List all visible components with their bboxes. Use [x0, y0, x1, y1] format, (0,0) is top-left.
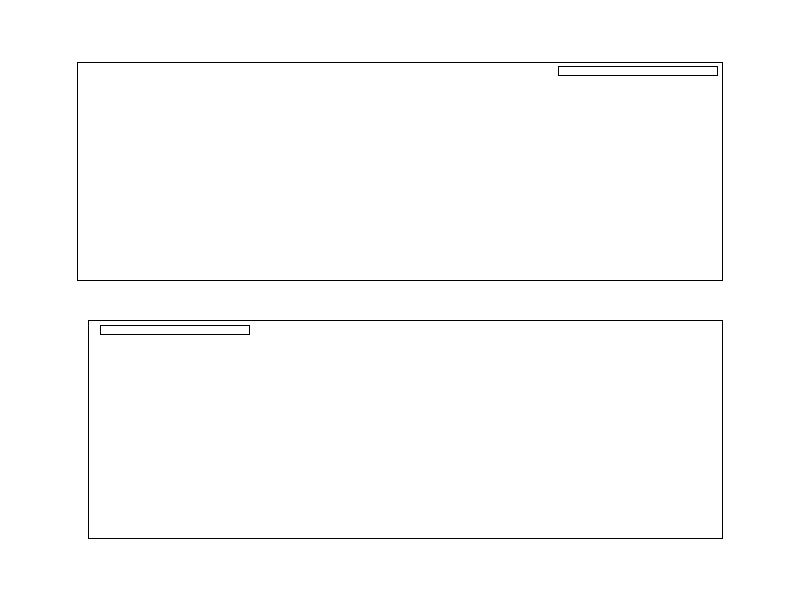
- bottom-panel-legend[interactable]: [100, 325, 250, 335]
- bottom-panel-plot-area: [89, 321, 723, 539]
- top-panel-axes[interactable]: [77, 62, 723, 281]
- figure-canvas: [0, 0, 800, 600]
- bottom-panel-axes[interactable]: [88, 320, 723, 539]
- top-panel-plot-area: [78, 63, 723, 281]
- top-panel-legend[interactable]: [558, 66, 718, 76]
